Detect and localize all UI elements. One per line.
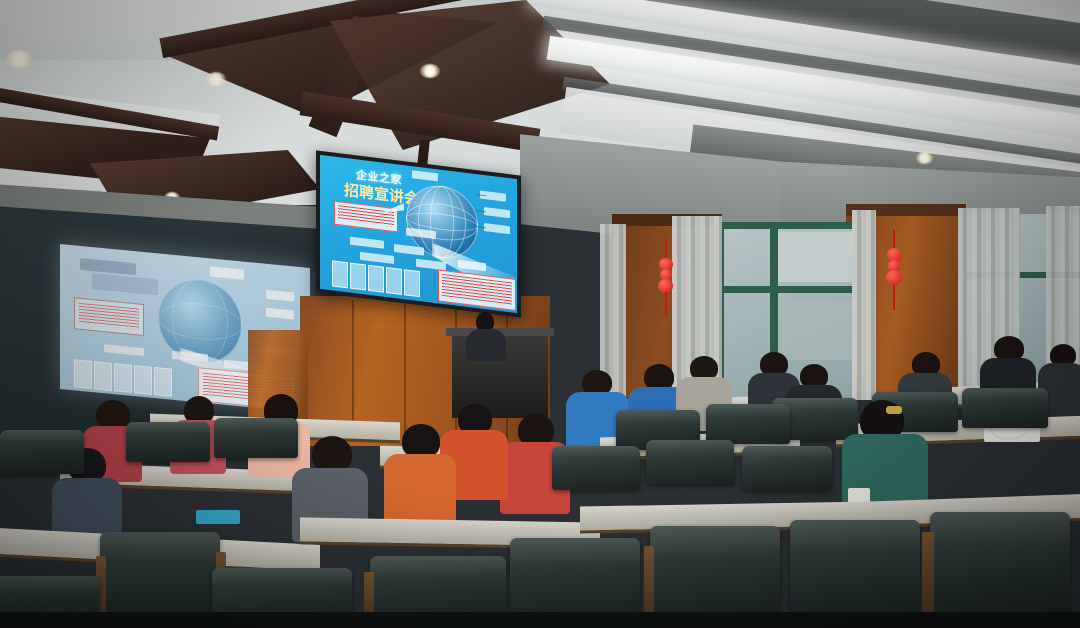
- lecture-hall-photo: 企业之家 招聘宣讲会: [0, 0, 1080, 628]
- photo-grain: [0, 0, 1080, 628]
